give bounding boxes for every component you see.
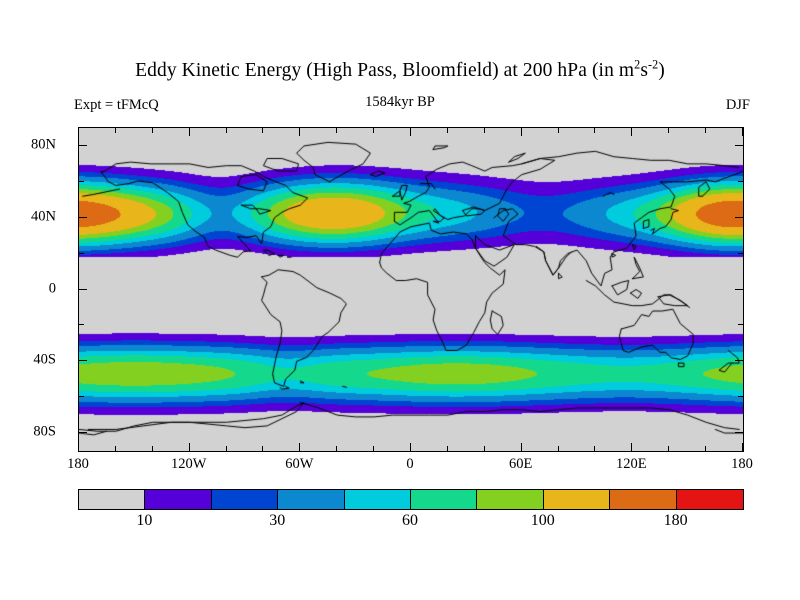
time-period-label: 1584kyr BP — [0, 94, 800, 111]
x-axis-label: 120E — [616, 456, 647, 473]
colorbar-swatch-140-to-180 — [609, 490, 676, 509]
x-tick — [521, 443, 522, 451]
x-tick — [336, 446, 337, 451]
x-tick — [705, 446, 706, 451]
y-tick — [79, 289, 87, 290]
x-tick — [484, 446, 485, 451]
y-tick — [735, 432, 743, 433]
y-axis-label: 0 — [49, 280, 56, 297]
x-tick — [742, 128, 743, 136]
y-tick — [738, 181, 743, 182]
x-tick — [484, 128, 485, 133]
colorbar-swatch-45-to-60 — [344, 490, 411, 509]
y-tick — [735, 289, 743, 290]
x-tick — [299, 443, 300, 451]
colorbar-swatch-60-to-80 — [410, 490, 477, 509]
colorbar-label: 10 — [136, 512, 152, 530]
x-tick — [373, 446, 374, 451]
x-tick — [262, 446, 263, 451]
colorbar-swatch-above-180 — [676, 490, 743, 509]
y-axis-label: 40S — [33, 352, 56, 369]
x-tick — [115, 128, 116, 133]
colorbar-swatch-below-10-masked — [79, 490, 145, 509]
x-tick — [78, 128, 79, 136]
y-tick — [79, 253, 84, 254]
colorbar-swatch-80-to-100 — [476, 490, 543, 509]
x-tick — [299, 128, 300, 136]
contour-map-canvas — [79, 128, 743, 451]
x-axis-label: 120W — [171, 456, 206, 473]
x-tick — [226, 128, 227, 133]
x-tick — [668, 446, 669, 451]
x-tick — [447, 128, 448, 133]
x-axis-label: 180 — [67, 456, 89, 473]
x-tick — [226, 446, 227, 451]
x-tick — [152, 128, 153, 133]
x-tick — [521, 128, 522, 136]
x-tick — [742, 443, 743, 451]
y-axis-label: 80S — [33, 424, 56, 441]
colorbar-swatch-30-to-45 — [277, 490, 344, 509]
y-tick — [738, 324, 743, 325]
y-tick — [79, 396, 84, 397]
x-axis-label: 0 — [406, 456, 413, 473]
x-tick — [631, 443, 632, 451]
y-tick — [79, 145, 87, 146]
y-tick — [79, 217, 87, 218]
figure-title-text: Eddy Kinetic Energy (High Pass, Bloomfie… — [135, 60, 634, 81]
x-tick — [115, 446, 116, 451]
colorbar-swatch-100-to-140 — [543, 490, 610, 509]
x-tick — [373, 128, 374, 133]
y-tick — [79, 181, 84, 182]
x-tick — [78, 443, 79, 451]
x-tick — [410, 443, 411, 451]
x-tick — [447, 446, 448, 451]
colorbar-swatch-20-to-30 — [211, 490, 278, 509]
y-tick — [735, 360, 743, 361]
x-tick — [705, 128, 706, 133]
y-tick — [735, 217, 743, 218]
colorbar-label: 30 — [269, 512, 285, 530]
colorbar-swatch-10-to-20 — [144, 490, 211, 509]
y-tick — [735, 145, 743, 146]
y-tick — [738, 253, 743, 254]
x-tick — [336, 128, 337, 133]
x-tick — [152, 446, 153, 451]
colorbar-label: 180 — [664, 512, 688, 530]
y-tick — [79, 360, 87, 361]
x-tick — [668, 128, 669, 133]
colorbar — [78, 489, 744, 510]
x-tick — [594, 446, 595, 451]
x-tick — [558, 128, 559, 133]
y-axis-label: 40N — [31, 208, 56, 225]
x-axis-label: 60E — [509, 456, 532, 473]
map-plot-area — [78, 127, 744, 452]
x-tick — [558, 446, 559, 451]
x-axis-label: 180 — [731, 456, 753, 473]
y-axis-label: 80N — [31, 136, 56, 153]
climate-contour-figure: Eddy Kinetic Energy (High Pass, Bloomfie… — [0, 0, 800, 600]
figure-title: Eddy Kinetic Energy (High Pass, Bloomfie… — [0, 60, 800, 82]
y-tick — [79, 324, 84, 325]
figure-title-close: ) — [658, 60, 665, 81]
figure-title-exponent-2: -2 — [648, 58, 658, 72]
colorbar-label: 60 — [402, 512, 418, 530]
y-tick — [738, 396, 743, 397]
x-tick — [262, 128, 263, 133]
x-tick — [594, 128, 595, 133]
x-tick — [189, 443, 190, 451]
season-label: DJF — [726, 97, 750, 114]
figure-title-mid: s — [640, 60, 648, 81]
x-tick — [189, 128, 190, 136]
x-axis-label: 60W — [285, 456, 313, 473]
x-tick — [631, 128, 632, 136]
x-tick — [410, 128, 411, 136]
colorbar-label: 100 — [531, 512, 555, 530]
y-tick — [79, 432, 87, 433]
